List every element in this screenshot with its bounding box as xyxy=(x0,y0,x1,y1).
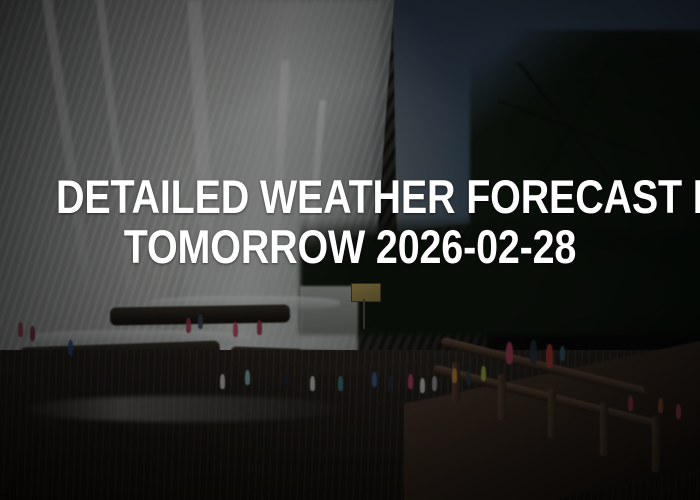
visitor-figure xyxy=(338,376,343,391)
bare-branch xyxy=(498,62,648,192)
visitor-figure xyxy=(198,314,203,329)
visitor-figure xyxy=(220,374,225,389)
visitor-figure xyxy=(257,320,262,335)
visitor-figure xyxy=(676,404,681,419)
visitor-figure xyxy=(310,376,315,391)
bridge-post-5 xyxy=(652,416,660,472)
river-sheen xyxy=(20,396,350,422)
bridge-post-2 xyxy=(498,374,506,420)
visitor-figure xyxy=(233,322,238,337)
visitor-figure xyxy=(388,376,393,391)
bridge-post-4 xyxy=(600,402,608,456)
visitor-figure xyxy=(560,346,565,361)
visitor-figure xyxy=(628,396,633,411)
visitor-figure xyxy=(245,370,250,385)
visitor-figure xyxy=(186,318,191,333)
visitor-figure xyxy=(452,368,457,383)
signboard-post xyxy=(363,299,365,329)
visitor-figure xyxy=(466,370,471,385)
bridge-post-3 xyxy=(548,388,556,438)
visitor-figure xyxy=(68,340,73,355)
visitor-figure xyxy=(420,378,425,393)
visitor-figure xyxy=(284,372,289,387)
visitor-figure xyxy=(30,326,35,341)
visitor-figure xyxy=(546,344,553,368)
visitor-figure xyxy=(506,342,513,364)
white-wall-structure xyxy=(300,286,358,358)
visitor-figure xyxy=(432,376,437,391)
weather-forecast-hero-banner: DETAILED WEATHER FORECAST FOR CHHATTISGA… xyxy=(0,0,700,500)
signboard xyxy=(351,283,381,302)
visitor-figure xyxy=(481,366,486,381)
visitor-figure xyxy=(18,322,23,337)
tree-line-background xyxy=(300,215,700,335)
visitor-figure xyxy=(372,372,377,387)
visitor-figure xyxy=(658,398,663,413)
background-photo xyxy=(0,0,700,500)
visitor-figure xyxy=(408,374,413,389)
visitor-figure xyxy=(530,340,537,364)
